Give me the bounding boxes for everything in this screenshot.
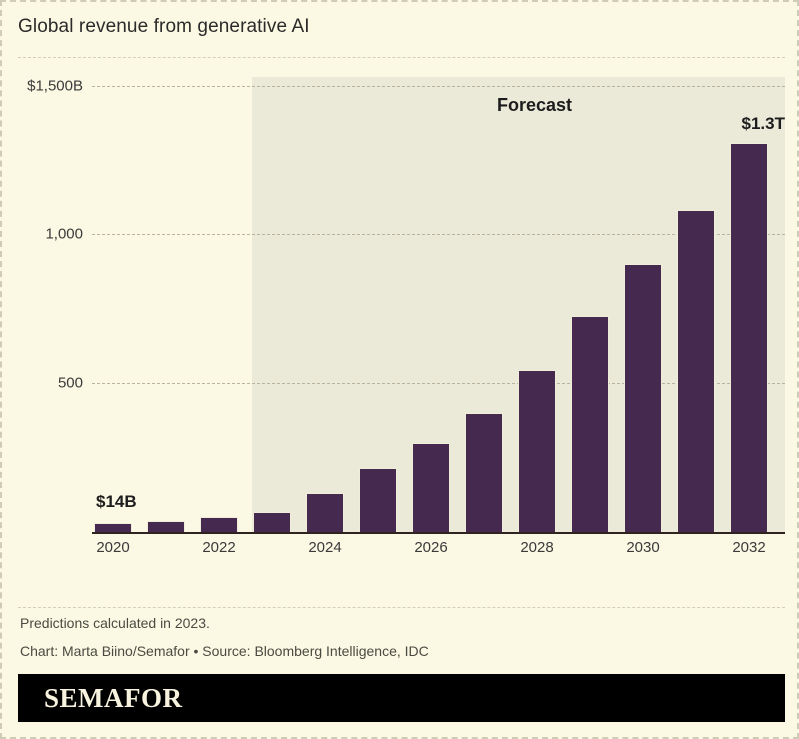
- footer-divider: [18, 607, 785, 608]
- title-divider: [18, 57, 785, 58]
- xtick-label-2020: 2020: [96, 539, 129, 556]
- bar-2020[interactable]: [94, 523, 132, 532]
- bar-2024[interactable]: [306, 493, 344, 532]
- bar-2031[interactable]: [677, 210, 715, 532]
- ytick-label-1500: $1,500B: [27, 78, 83, 95]
- plot-area: $1,500B 1,000 500 Forecast $14B $1.3T 20…: [92, 77, 785, 532]
- chart-card: Global revenue from generative AI $1,500…: [0, 0, 799, 739]
- semafor-logo: SEMAFOR: [44, 683, 183, 714]
- bar-2028[interactable]: [518, 370, 556, 532]
- footer-note: Predictions calculated in 2023.: [20, 615, 210, 631]
- xtick-label-2026: 2026: [414, 539, 447, 556]
- bar-2029[interactable]: [571, 316, 609, 532]
- footer-credit: Chart: Marta Biino/Semafor • Source: Blo…: [20, 643, 429, 659]
- xtick-label-2028: 2028: [520, 539, 553, 556]
- last-value-annotation: $1.3T: [742, 114, 785, 134]
- xtick-label-2032: 2032: [732, 539, 765, 556]
- logo-bar: SEMAFOR: [18, 674, 785, 722]
- x-axis-line: [92, 532, 785, 534]
- ytick-label-500: 500: [58, 375, 83, 392]
- bar-2025[interactable]: [359, 468, 397, 532]
- gridline-1500: [92, 86, 785, 87]
- bar-2030[interactable]: [624, 264, 662, 532]
- bar-2022[interactable]: [200, 517, 238, 532]
- forecast-annotation: Forecast: [497, 95, 572, 116]
- bar-2026[interactable]: [412, 443, 450, 532]
- xtick-label-2022: 2022: [202, 539, 235, 556]
- xtick-label-2024: 2024: [308, 539, 341, 556]
- bar-2032[interactable]: [730, 143, 768, 532]
- bar-2021[interactable]: [147, 521, 185, 532]
- first-value-annotation: $14B: [96, 492, 137, 512]
- ytick-label-1000: 1,000: [45, 226, 83, 243]
- xtick-label-2030: 2030: [626, 539, 659, 556]
- bar-2027[interactable]: [465, 413, 503, 532]
- page-title: Global revenue from generative AI: [18, 16, 310, 38]
- bar-2023[interactable]: [253, 512, 291, 532]
